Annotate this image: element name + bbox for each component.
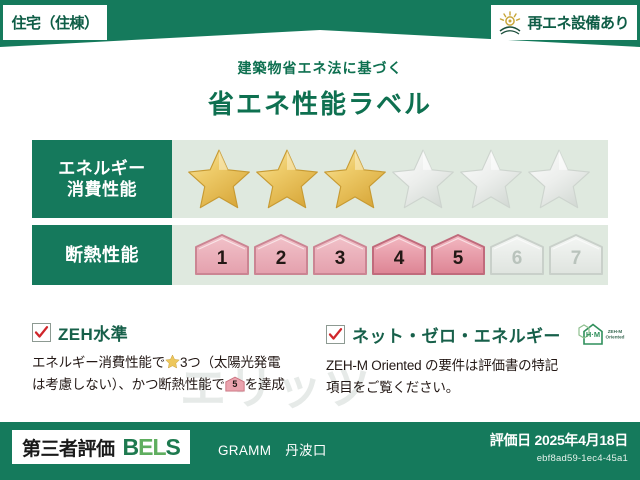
bels-letter-b: B xyxy=(123,434,139,460)
note-zeh-body-star-text: 3つ（太陽光発電 xyxy=(180,355,280,370)
svg-text:Oriented: Oriented xyxy=(605,335,624,340)
star-icon-filled xyxy=(254,147,320,211)
property-location: 丹波口 xyxy=(285,443,326,458)
star-icon-empty xyxy=(458,147,524,211)
evaluation-info: 評価日 2025年4月18日 ebf8ad59-1ec4-45a1 xyxy=(490,430,628,464)
page-title: 省エネ性能ラベル xyxy=(0,84,640,121)
note-zeh-body: エネルギー消費性能で3つ（太陽光発電 は考慮しない）、かつ断熱性能で5を達成 xyxy=(32,352,310,396)
svg-text:ZEH-M: ZEH-M xyxy=(608,329,623,334)
note-net-zero-energy: ネット・ゼロ・エネルギー H·M ZEH-M Oriented ZEH-M Or… xyxy=(326,320,612,399)
inline-star-icon xyxy=(165,354,180,369)
bels-letters-el: EL xyxy=(138,434,165,460)
energy-performance-label: 住宅（住棟） 再エネ設備あり xyxy=(0,0,640,480)
house-icon-filled: 1 xyxy=(194,233,250,277)
star-icon-empty xyxy=(526,147,592,211)
renewable-badge-label: 再エネ設備あり xyxy=(527,12,629,33)
note-zeh-header: ZEH水準 xyxy=(32,320,310,345)
bottom-bar: 第三者評価 BELS GRAMM丹波口 評価日 2025年4月18日 ebf8a… xyxy=(0,422,640,480)
zeh-m-oriented-logo: H·M ZEH-M Oriented xyxy=(570,320,630,348)
house-number: 2 xyxy=(253,248,309,270)
note-nze-body-line2: 項目をご覧ください。 xyxy=(326,380,459,395)
evaluation-date-value: 2025年4月18日 xyxy=(534,432,628,448)
property-brand: GRAMM xyxy=(218,443,271,458)
note-nze-body: ZEH-M Oriented の要件は評価書の特記 項目をご覧ください。 xyxy=(326,355,612,399)
note-zeh-standard: ZEH水準 エネルギー消費性能で3つ（太陽光発電 は考慮しない）、かつ断熱性能で… xyxy=(32,320,310,399)
bels-wordmark: BELS xyxy=(123,434,180,461)
sun-icon xyxy=(497,10,523,36)
note-zeh-body-line2: は考慮しない）、かつ断熱性能で xyxy=(32,377,225,392)
house-icon-filled: 3 xyxy=(312,233,368,277)
note-nze-title: ネット・ゼロ・エネルギー xyxy=(352,322,561,347)
evaluation-date: 評価日 2025年4月18日 xyxy=(490,430,628,450)
checkbox-checked-icon xyxy=(32,323,51,342)
house-number: 6 xyxy=(489,248,545,270)
note-nze-header: ネット・ゼロ・エネルギー H·M ZEH-M Oriented xyxy=(326,320,612,348)
checkbox-checked-icon xyxy=(326,325,345,344)
energy-star-rating xyxy=(172,140,608,218)
insulation-label-line1: 断熱性能 xyxy=(65,244,139,267)
energy-label-line2: 消費性能 xyxy=(67,179,137,200)
insulation-performance-label: 断熱性能 xyxy=(32,225,172,285)
label-title-block: 建築物省エネ法に基づく 省エネ性能ラベル xyxy=(0,58,640,121)
house-number: 3 xyxy=(312,248,368,270)
star-icon-empty xyxy=(390,147,456,211)
renewable-energy-badge: 再エネ設備あり xyxy=(491,5,637,40)
third-party-evaluation-label: 第三者評価 xyxy=(22,434,115,461)
house-icon-empty: 7 xyxy=(548,233,604,277)
property-name: GRAMM丹波口 xyxy=(218,439,327,459)
house-icon-filled: 5 xyxy=(430,233,486,277)
insulation-house-rating: 1234567 xyxy=(172,225,608,285)
energy-performance-row: エネルギー 消費性能 xyxy=(32,140,608,218)
house-icon-filled: 4 xyxy=(371,233,427,277)
ratings-section: エネルギー 消費性能 断熱性能 1234567 xyxy=(32,140,608,285)
note-zeh-title: ZEH水準 xyxy=(58,320,128,345)
star-icon-filled xyxy=(186,147,252,211)
notes-section: ZEH水準 エネルギー消費性能で3つ（太陽光発電 は考慮しない）、かつ断熱性能で… xyxy=(32,320,612,399)
house-number: 4 xyxy=(371,248,427,270)
energy-performance-label: エネルギー 消費性能 xyxy=(32,140,172,218)
evaluation-id: ebf8ad59-1ec4-45a1 xyxy=(490,453,628,464)
building-type-tag: 住宅（住棟） xyxy=(3,5,107,40)
inline-house-icon: 5 xyxy=(225,376,245,392)
star-icon-filled xyxy=(322,147,388,211)
house-number: 5 xyxy=(430,248,486,270)
house-number: 1 xyxy=(194,248,250,270)
svg-text:H·M: H·M xyxy=(586,330,600,339)
title-subtitle: 建築物省エネ法に基づく xyxy=(0,58,640,78)
energy-label-line1: エネルギー xyxy=(58,158,146,179)
inline-house-number: 5 xyxy=(225,380,245,389)
evaluation-date-label: 評価日 xyxy=(490,432,531,448)
house-number: 7 xyxy=(548,248,604,270)
note-zeh-body-line3: を達成 xyxy=(245,377,285,392)
house-icon-empty: 6 xyxy=(489,233,545,277)
note-zeh-body-line1: エネルギー消費性能で xyxy=(32,355,165,370)
note-nze-body-line1: ZEH-M Oriented の要件は評価書の特記 xyxy=(326,358,558,373)
insulation-performance-row: 断熱性能 1234567 xyxy=(32,225,608,285)
bels-letter-s: S xyxy=(166,434,180,460)
bels-logo: 第三者評価 BELS xyxy=(12,430,190,464)
house-icon-filled: 2 xyxy=(253,233,309,277)
